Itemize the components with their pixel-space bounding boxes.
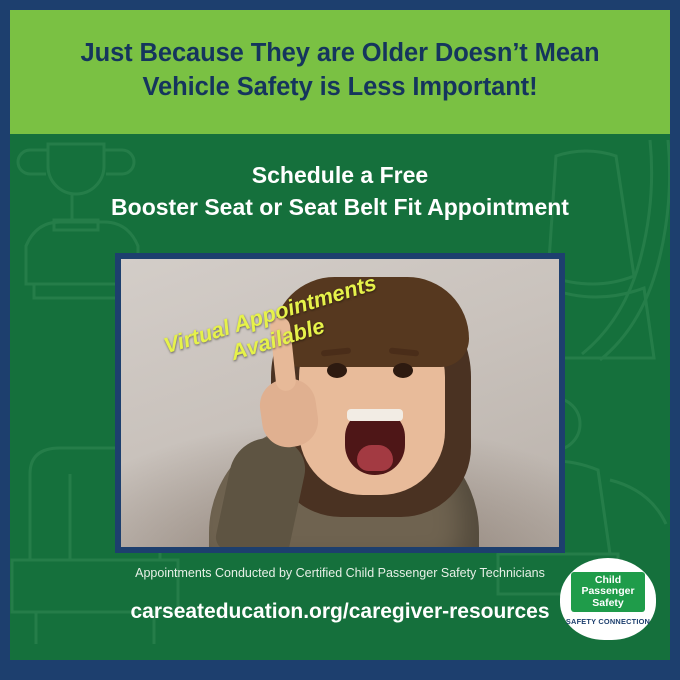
cps-logo: Child Passenger Safety SAFETY CONNECTION [560, 558, 656, 640]
subheadline-line-1: Schedule a Free [10, 160, 670, 190]
photo-eye-right [393, 363, 413, 378]
headline-band: Just Because They are Older Doesn’t Mean… [10, 10, 670, 134]
cps-logo-subtitle: SAFETY CONNECTION [566, 617, 650, 626]
photo-teeth-shape [347, 409, 403, 421]
cps-logo-line-3: Safety [577, 598, 639, 610]
photo-tongue-shape [357, 445, 393, 471]
cps-logo-badge: Child Passenger Safety [571, 572, 645, 613]
photo-eye-left [327, 363, 347, 378]
headline-line-2: Vehicle Safety is Less Important! [143, 70, 538, 104]
photo-frame: Virtual Appointments Available [115, 253, 565, 553]
headline-line-1: Just Because They are Older Doesn’t Mean [81, 36, 600, 70]
poster: Just Because They are Older Doesn’t Mean… [0, 0, 680, 680]
subheadline: Schedule a Free Booster Seat or Seat Bel… [10, 134, 670, 224]
subheadline-line-2: Booster Seat or Seat Belt Fit Appointmen… [10, 190, 670, 224]
body-area: Schedule a Free Booster Seat or Seat Bel… [10, 134, 670, 660]
